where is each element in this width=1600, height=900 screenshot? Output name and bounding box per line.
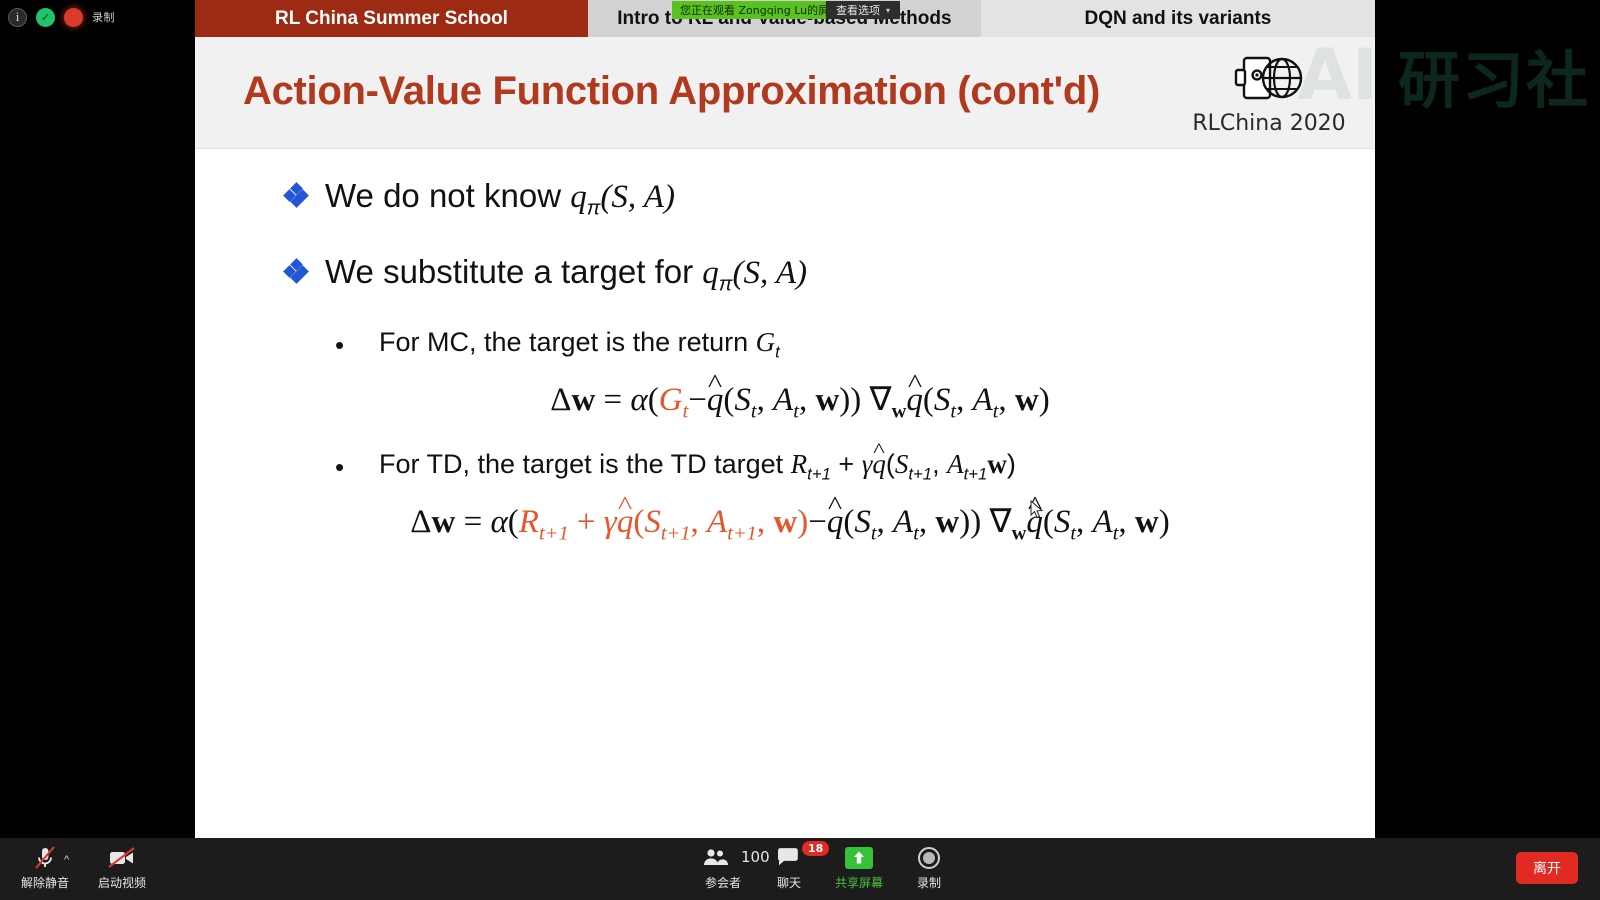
- watermark-brand: 研习社: [1398, 30, 1590, 120]
- participants-label: 参会者: [705, 874, 741, 891]
- view-options-label: 查看选项: [836, 2, 880, 18]
- bullet-item: We substitute a target for qπ(S, A): [285, 251, 1375, 297]
- sub-bullet-text-mc: For MC, the target is the return: [379, 327, 756, 357]
- diamond-bullet-icon: [285, 251, 325, 260]
- record-button[interactable]: 录制: [892, 844, 966, 891]
- sub-bullet-text: For MC, the target is the return Gt: [379, 327, 780, 362]
- record-circle-icon: [917, 844, 941, 871]
- start-video-label: 启动视频: [98, 874, 146, 891]
- sub-bullet-item: • For MC, the target is the return Gt: [335, 327, 1375, 362]
- chat-button[interactable]: 18 聊天: [752, 844, 826, 891]
- diamond-bullet-icon: [285, 175, 325, 184]
- bullet-text-2: We substitute a target for: [325, 253, 702, 290]
- sub-bullet-text: For TD, the target is the TD target Rt+1…: [379, 449, 1016, 484]
- share-screen-button[interactable]: 共享屏幕: [822, 844, 896, 891]
- camera-muted-icon: [107, 844, 137, 871]
- encryption-shield-icon[interactable]: ✓: [36, 8, 55, 27]
- participants-button[interactable]: 100 参会者: [686, 844, 760, 891]
- watermark-ai: AI: [1298, 34, 1378, 116]
- recording-label: 录制: [92, 9, 115, 25]
- meeting-status-bar: i ✓ 录制: [0, 0, 195, 34]
- dot-bullet-icon: •: [335, 449, 379, 483]
- chevron-down-icon: ▾: [886, 6, 890, 15]
- record-label: 录制: [917, 874, 941, 891]
- sub-bullet-text-td: For TD, the target is the TD target: [379, 449, 791, 479]
- sub-bullet-item: • For TD, the target is the TD target Rt…: [335, 449, 1375, 484]
- mute-button[interactable]: 解除静音: [8, 844, 82, 891]
- view-options-dropdown[interactable]: 查看选项 ▾: [826, 1, 900, 19]
- start-video-button[interactable]: 启动视频: [85, 844, 159, 891]
- bullet-text: We substitute a target for qπ(S, A): [325, 251, 807, 297]
- watermark-text: 研习社: [1398, 44, 1590, 117]
- zoom-meeting-window: i ✓ 录制 RL China Summer School Intro to R…: [0, 0, 1600, 900]
- bullet-text-1: We do not know: [325, 177, 570, 214]
- info-icon[interactable]: i: [8, 8, 27, 27]
- slide-title-band: Action-Value Function Approximation (con…: [195, 37, 1375, 149]
- mouse-cursor: [1030, 500, 1044, 520]
- page-title: Action-Value Function Approximation (con…: [243, 69, 1100, 114]
- share-up-arrow-icon: [845, 844, 873, 871]
- screen-share-notice: 您正在观看 Zongqing Lu的屏幕: [672, 1, 848, 19]
- dot-bullet-icon: •: [335, 327, 379, 361]
- audio-options-caret-icon[interactable]: ^: [64, 854, 69, 866]
- mute-label: 解除静音: [21, 874, 69, 891]
- equation-td-update: Δw = α(Rt+1 + γq(St+1, At+1, w)−q(St, At…: [195, 501, 1375, 546]
- chat-bubble-icon: 18: [776, 844, 802, 871]
- slide-body: We do not know qπ(S, A) We substitute a …: [195, 149, 1375, 838]
- bullet-item: We do not know qπ(S, A): [285, 175, 1375, 221]
- recording-dot-icon[interactable]: [64, 8, 83, 27]
- share-screen-label: 共享屏幕: [835, 874, 883, 891]
- equation-mc-update: Δw = α(Gt−q(St, At, w)) ∇wq(St, At, w): [195, 379, 1375, 424]
- ribbon-segment-course: RL China Summer School: [195, 0, 588, 37]
- chat-label: 聊天: [777, 874, 801, 891]
- ribbon-segment-section: DQN and its variants: [981, 0, 1375, 37]
- leave-meeting-button[interactable]: 离开: [1516, 852, 1578, 884]
- meeting-toolbar: 解除静音 ^ 启动视频 100: [0, 838, 1600, 900]
- people-icon: 100: [701, 844, 745, 871]
- shared-screen-area: RL China Summer School Intro to RL and V…: [195, 0, 1375, 838]
- bullet-text: We do not know qπ(S, A): [325, 175, 675, 221]
- microphone-muted-icon: [32, 844, 58, 871]
